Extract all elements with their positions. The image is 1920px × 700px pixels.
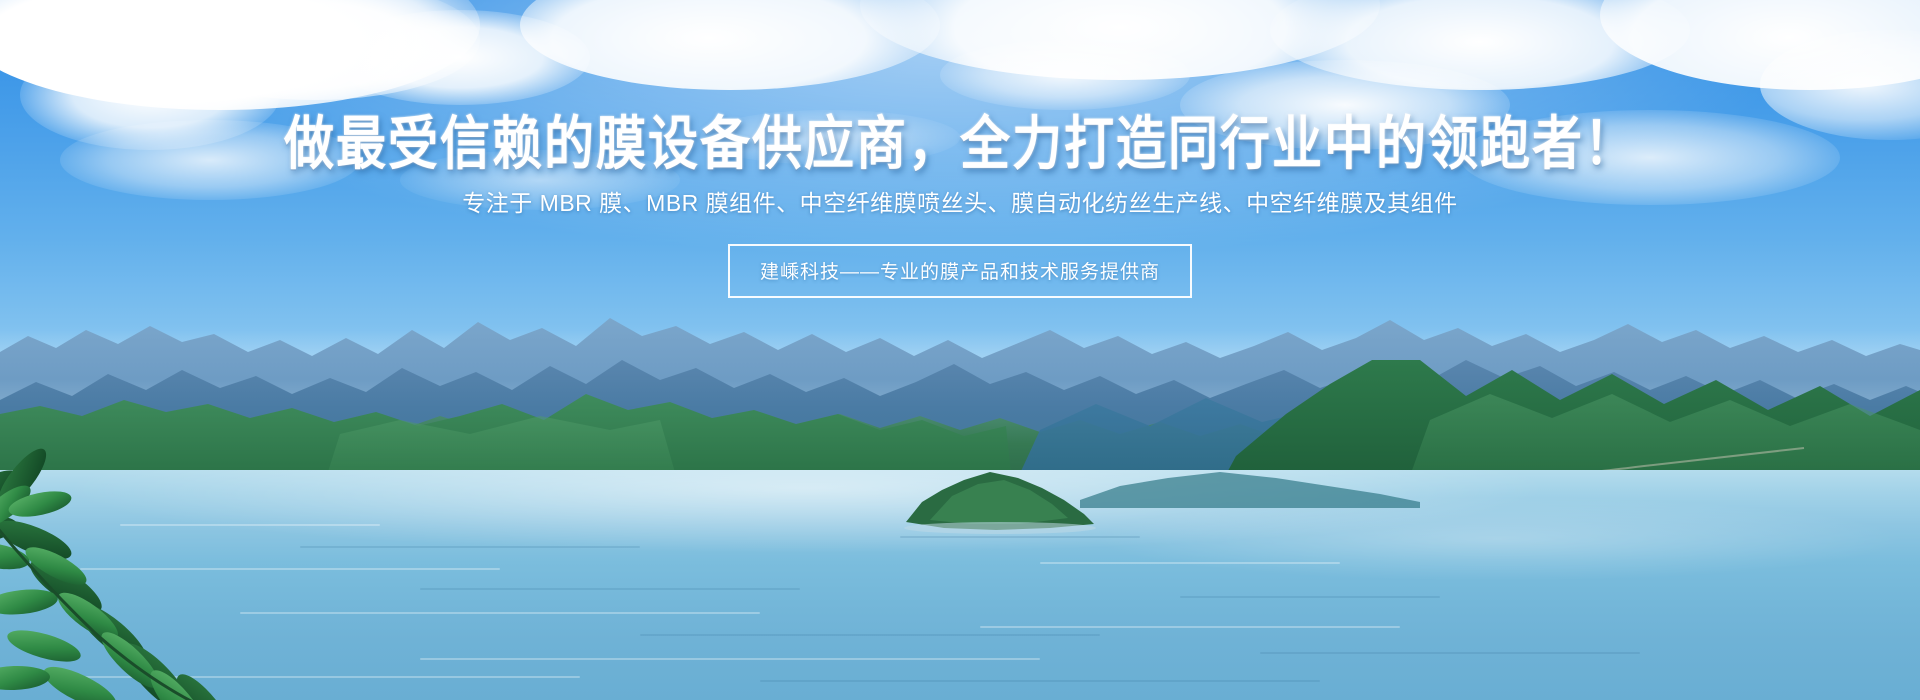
distant-shoreline: [1080, 452, 1420, 508]
hero-banner: 做最受信赖的膜设备供应商，全力打造同行业中的领跑者！ 专注于 MBR 膜、MBR…: [0, 0, 1920, 700]
small-wooded-island: [900, 462, 1100, 534]
banner-copy: 做最受信赖的膜设备供应商，全力打造同行业中的领跑者！ 专注于 MBR 膜、MBR…: [0, 0, 1920, 298]
banner-tagline-box: 建嵊科技——专业的膜产品和技术服务提供商: [728, 244, 1192, 298]
foreground-leafy-branch: [0, 420, 310, 700]
banner-headline: 做最受信赖的膜设备供应商，全力打造同行业中的领跑者！: [0, 0, 1920, 176]
